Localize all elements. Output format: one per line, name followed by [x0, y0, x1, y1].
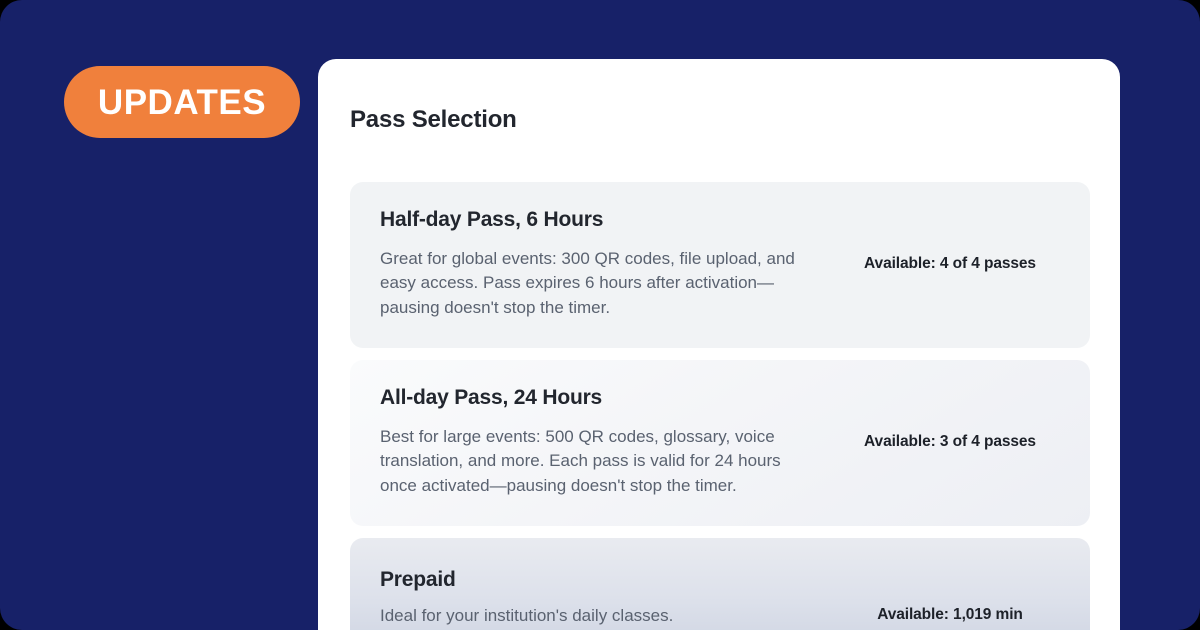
pass-availability: Available: 4 of 4 passes	[840, 255, 1060, 273]
page-title: Pass Selection	[350, 108, 517, 132]
pass-card-content: Half-day Pass, 6 Hours Great for global …	[380, 208, 840, 319]
updates-badge: UPDATES	[64, 66, 300, 138]
pass-card-content: All-day Pass, 24 Hours Best for large ev…	[380, 386, 840, 497]
updates-badge-label: UPDATES	[98, 85, 266, 120]
pass-description: Ideal for your institution's daily class…	[380, 604, 810, 628]
pass-availability: Available: 3 of 4 passes	[840, 433, 1060, 451]
pass-card-all-day[interactable]: All-day Pass, 24 Hours Best for large ev…	[350, 360, 1090, 526]
pass-title: All-day Pass, 24 Hours	[380, 386, 840, 409]
pass-title: Prepaid	[380, 568, 840, 591]
pass-list: Half-day Pass, 6 Hours Great for global …	[350, 182, 1090, 630]
pass-description: Great for global events: 300 QR codes, f…	[380, 247, 810, 319]
pass-selection-panel: Pass Selection Half-day Pass, 6 Hours Gr…	[318, 59, 1120, 630]
pass-card-prepaid[interactable]: Prepaid Ideal for your institution's dai…	[350, 538, 1090, 630]
screenshot-root: UPDATES Pass Selection Half-day Pass, 6 …	[0, 0, 1200, 630]
pass-title: Half-day Pass, 6 Hours	[380, 208, 840, 231]
pass-availability: Available: 1,019 min	[840, 568, 1060, 624]
pass-card-half-day[interactable]: Half-day Pass, 6 Hours Great for global …	[350, 182, 1090, 348]
pass-description: Best for large events: 500 QR codes, glo…	[380, 425, 810, 497]
pass-card-content: Prepaid Ideal for your institution's dai…	[380, 568, 840, 628]
